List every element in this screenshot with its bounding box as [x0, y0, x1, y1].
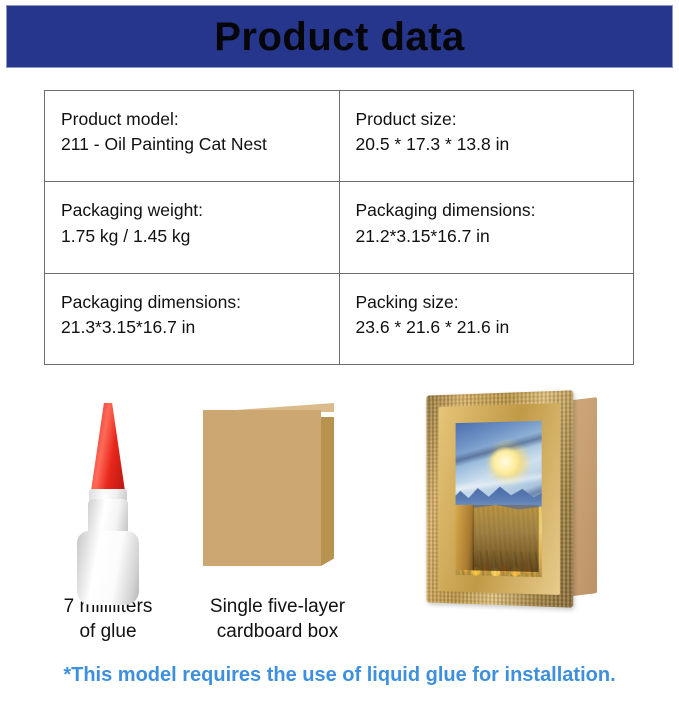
nest-cavity-side-wall	[456, 505, 475, 571]
table-row: Product model: 211 - Oil Painting Cat Ne…	[45, 91, 633, 182]
sun-shape	[488, 447, 521, 477]
item-glue: 7 milliliters of glue	[38, 395, 178, 644]
header-banner: Product data	[6, 5, 673, 68]
page-title: Product data	[214, 17, 464, 57]
glue-body-shape	[77, 531, 139, 605]
spec-cell-packaging-weight: Packaging weight: 1.75 kg / 1.45 kg	[45, 182, 340, 272]
item-caption-line2: cardboard box	[185, 620, 370, 645]
ornate-gold-frame	[426, 390, 573, 607]
spec-label: Packaging dimensions:	[61, 290, 339, 315]
table-row: Packaging dimensions: 21.3*3.15*16.7 in …	[45, 274, 633, 364]
spec-value: 23.6 * 21.6 * 21.6 in	[356, 315, 634, 340]
spec-value: 1.75 kg / 1.45 kg	[61, 224, 339, 249]
spec-value: 20.5 * 17.3 * 13.8 in	[356, 132, 634, 157]
spec-value: 21.2*3.15*16.7 in	[356, 224, 634, 249]
nest-cavity-opening	[472, 505, 539, 572]
spec-label: Packing size:	[356, 290, 634, 315]
spec-cell-packing-size: Packing size: 23.6 * 21.6 * 21.6 in	[340, 274, 634, 364]
spec-cell-product-size: Product size: 20.5 * 17.3 * 13.8 in	[340, 91, 634, 181]
painting-canvas	[456, 421, 542, 577]
spec-label: Packaging weight:	[61, 198, 339, 223]
item-oil-painting-cat-nest	[405, 385, 645, 613]
item-cardboard-box: Single five-layer cardboard box	[185, 395, 370, 644]
box-front-face	[203, 410, 321, 566]
spec-value: 211 - Oil Painting Cat Nest	[61, 132, 339, 157]
table-row: Packaging weight: 1.75 kg / 1.45 kg Pack…	[45, 182, 633, 273]
spec-label: Product model:	[61, 107, 339, 132]
oil-painting-cat-nest-icon	[405, 385, 645, 613]
glue-bottle-icon	[38, 395, 178, 595]
cardboard-box-icon	[185, 395, 370, 595]
installation-footnote: *This model requires the use of liquid g…	[0, 664, 679, 687]
spec-label: Product size:	[356, 107, 634, 132]
frame-inner-liner	[439, 403, 560, 595]
spec-value: 21.3*3.15*16.7 in	[61, 315, 339, 340]
spec-cell-packaging-dimensions-alt: Packaging dimensions: 21.3*3.15*16.7 in	[45, 274, 340, 364]
spec-cell-product-model: Product model: 211 - Oil Painting Cat Ne…	[45, 91, 340, 181]
product-spec-table: Product model: 211 - Oil Painting Cat Ne…	[44, 90, 634, 365]
item-caption-line2: of glue	[38, 620, 178, 645]
box-side-face	[321, 417, 334, 566]
glue-cap-shape	[91, 403, 125, 491]
item-caption-line1: Single five-layer	[185, 595, 370, 620]
spec-cell-packaging-dimensions: Packaging dimensions: 21.2*3.15*16.7 in	[340, 182, 634, 272]
spec-label: Packaging dimensions:	[356, 198, 634, 223]
included-items-strip: 7 milliliters of glue Single five-layer …	[0, 395, 679, 640]
